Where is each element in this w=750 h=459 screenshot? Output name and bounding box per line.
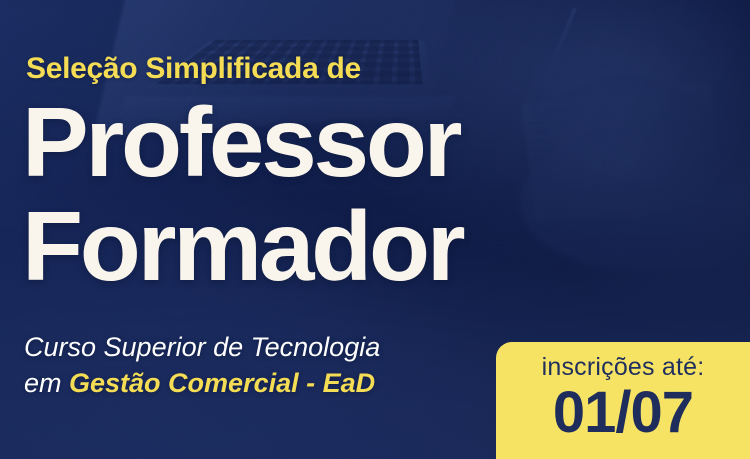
- subtitle-line-1: Curso Superior de Tecnologia: [24, 332, 380, 362]
- headline-line-2: Formador: [22, 204, 462, 288]
- banner-content: Seleção Simplificada de Professor Formad…: [0, 0, 750, 459]
- eyebrow-text: Seleção Simplificada de: [26, 54, 361, 84]
- deadline-label: inscrições até:: [496, 355, 750, 380]
- subtitle-prefix: em: [24, 368, 69, 398]
- promotional-banner: Seleção Simplificada de Professor Formad…: [0, 0, 750, 459]
- subtitle-block: Curso Superior de Tecnologia em Gestão C…: [24, 330, 380, 401]
- headline-line-1: Professor: [22, 100, 459, 184]
- deadline-date: 01/07: [496, 384, 750, 442]
- subtitle-line-2: em Gestão Comercial - EaD: [24, 366, 380, 402]
- deadline-badge: inscrições até: 01/07: [496, 342, 750, 459]
- subtitle-course-highlight: Gestão Comercial - EaD: [69, 368, 375, 398]
